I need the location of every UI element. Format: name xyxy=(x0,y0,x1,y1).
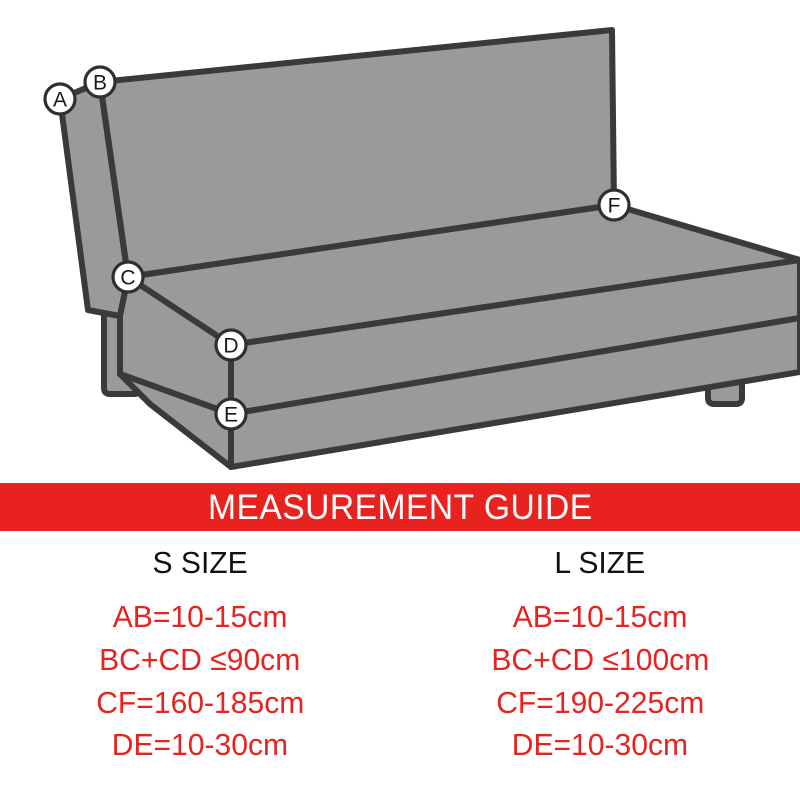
measurement-row: DE=10-30cm xyxy=(112,724,288,767)
measurement-row: BC+CD ≤90cm xyxy=(99,639,300,682)
size-column-s: S SIZE AB=10-15cm BC+CD ≤90cm CF=160-185… xyxy=(0,531,400,800)
point-a: A xyxy=(45,84,75,114)
point-e: E xyxy=(216,399,246,429)
size-column-l: L SIZE AB=10-15cm BC+CD ≤100cm CF=190-22… xyxy=(400,531,800,800)
point-c: C xyxy=(113,262,143,292)
measurement-guide-banner: MEASUREMENT GUIDE xyxy=(0,483,800,531)
measurement-row: AB=10-15cm xyxy=(113,596,288,639)
point-f: F xyxy=(599,190,629,220)
size-column-l-title: L SIZE xyxy=(555,547,646,578)
measurement-guide-page: A B C D E xyxy=(0,0,800,800)
measurement-guide-section: MEASUREMENT GUIDE S SIZE AB=10-15cm BC+C… xyxy=(0,483,800,800)
measurement-row: CF=190-225cm xyxy=(496,682,704,725)
point-a-label: A xyxy=(53,89,67,112)
point-d-label: D xyxy=(223,335,238,358)
point-d: D xyxy=(216,330,246,360)
sofa-diagram: A B C D E xyxy=(0,0,800,483)
measurement-row: AB=10-15cm xyxy=(513,596,688,639)
measurement-row: DE=10-30cm xyxy=(512,724,688,767)
measurement-guide-title: MEASUREMENT GUIDE xyxy=(208,490,593,525)
size-column-s-title: S SIZE xyxy=(152,547,247,578)
sofa-illustration: A B C D E xyxy=(0,0,800,483)
measurement-row: BC+CD ≤100cm xyxy=(491,639,709,682)
measurement-row: CF=160-185cm xyxy=(96,682,304,725)
point-c-label: C xyxy=(120,267,135,290)
point-f-label: F xyxy=(608,195,621,218)
size-columns: S SIZE AB=10-15cm BC+CD ≤90cm CF=160-185… xyxy=(0,531,800,800)
point-e-label: E xyxy=(224,404,238,427)
size-column-s-measurements: AB=10-15cm BC+CD ≤90cm CF=160-185cm DE=1… xyxy=(93,596,308,767)
point-b-label: B xyxy=(93,72,107,95)
point-b: B xyxy=(85,67,115,97)
size-column-l-measurements: AB=10-15cm BC+CD ≤100cm CF=190-225cm DE=… xyxy=(488,596,713,767)
